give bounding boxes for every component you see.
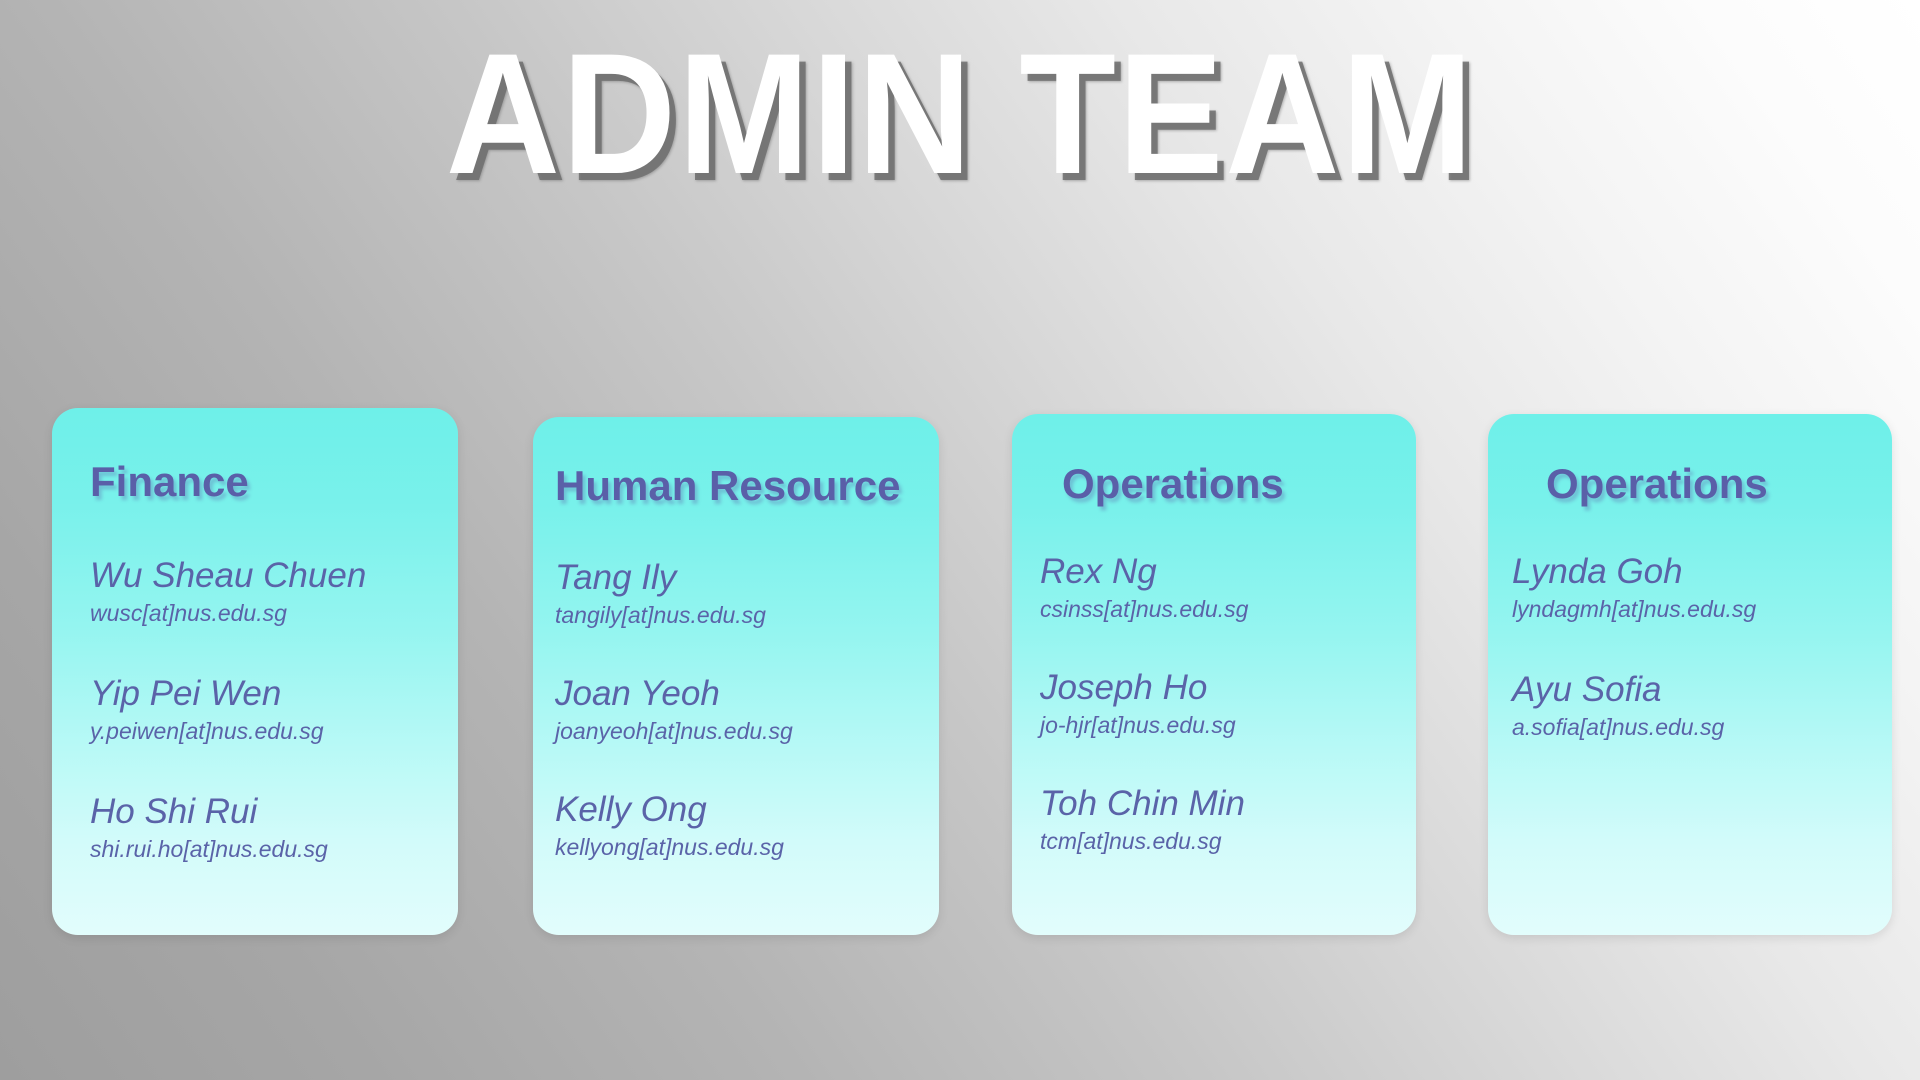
- person-email: csinss[at]nus.edu.sg: [1040, 596, 1416, 624]
- person-entry: Kelly Ong kellyong[at]nus.edu.sg: [555, 790, 939, 862]
- person-entry: Wu Sheau Chuen wusc[at]nus.edu.sg: [90, 556, 458, 628]
- person-name: Wu Sheau Chuen: [90, 556, 458, 596]
- card-heading: Operations: [1546, 462, 1892, 506]
- person-name: Lynda Goh: [1512, 552, 1892, 592]
- person-entry: Joan Yeoh joanyeoh[at]nus.edu.sg: [555, 674, 939, 746]
- person-email: lyndagmh[at]nus.edu.sg: [1512, 596, 1892, 624]
- person-entry: Yip Pei Wen y.peiwen[at]nus.edu.sg: [90, 674, 458, 746]
- people-list: Wu Sheau Chuen wusc[at]nus.edu.sg Yip Pe…: [90, 556, 458, 864]
- person-email: kellyong[at]nus.edu.sg: [555, 834, 939, 862]
- card-heading: Operations: [1062, 462, 1416, 506]
- person-email: y.peiwen[at]nus.edu.sg: [90, 718, 458, 746]
- people-list: Tang Ily tangily[at]nus.edu.sg Joan Yeoh…: [555, 558, 939, 862]
- person-entry: Ayu Sofia a.sofia[at]nus.edu.sg: [1512, 670, 1892, 742]
- person-name: Kelly Ong: [555, 790, 939, 830]
- person-name: Rex Ng: [1040, 552, 1416, 592]
- person-email: wusc[at]nus.edu.sg: [90, 600, 458, 628]
- people-list: Lynda Goh lyndagmh[at]nus.edu.sg Ayu Sof…: [1512, 552, 1892, 742]
- person-entry: Ho Shi Rui shi.rui.ho[at]nus.edu.sg: [90, 792, 458, 864]
- team-card-operations-2: Operations Lynda Goh lyndagmh[at]nus.edu…: [1488, 414, 1892, 935]
- person-email: joanyeoh[at]nus.edu.sg: [555, 718, 939, 746]
- card-heading: Finance: [90, 460, 458, 504]
- people-list: Rex Ng csinss[at]nus.edu.sg Joseph Ho jo…: [1040, 552, 1416, 856]
- person-entry: Rex Ng csinss[at]nus.edu.sg: [1040, 552, 1416, 624]
- person-name: Tang Ily: [555, 558, 939, 598]
- person-name: Toh Chin Min: [1040, 784, 1416, 824]
- person-email: tangily[at]nus.edu.sg: [555, 602, 939, 630]
- person-entry: Tang Ily tangily[at]nus.edu.sg: [555, 558, 939, 630]
- person-name: Joseph Ho: [1040, 668, 1416, 708]
- person-email: a.sofia[at]nus.edu.sg: [1512, 714, 1892, 742]
- person-entry: Joseph Ho jo-hjr[at]nus.edu.sg: [1040, 668, 1416, 740]
- team-cards-row: Finance Wu Sheau Chuen wusc[at]nus.edu.s…: [0, 0, 1920, 1080]
- person-entry: Toh Chin Min tcm[at]nus.edu.sg: [1040, 784, 1416, 856]
- person-name: Joan Yeoh: [555, 674, 939, 714]
- person-email: jo-hjr[at]nus.edu.sg: [1040, 712, 1416, 740]
- card-heading: Human Resource: [555, 464, 939, 508]
- team-card-operations-1: Operations Rex Ng csinss[at]nus.edu.sg J…: [1012, 414, 1416, 935]
- person-entry: Lynda Goh lyndagmh[at]nus.edu.sg: [1512, 552, 1892, 624]
- person-email: tcm[at]nus.edu.sg: [1040, 828, 1416, 856]
- team-card-human-resource: Human Resource Tang Ily tangily[at]nus.e…: [533, 417, 939, 935]
- person-name: Yip Pei Wen: [90, 674, 458, 714]
- person-email: shi.rui.ho[at]nus.edu.sg: [90, 836, 458, 864]
- person-name: Ho Shi Rui: [90, 792, 458, 832]
- person-name: Ayu Sofia: [1512, 670, 1892, 710]
- team-card-finance: Finance Wu Sheau Chuen wusc[at]nus.edu.s…: [52, 408, 458, 935]
